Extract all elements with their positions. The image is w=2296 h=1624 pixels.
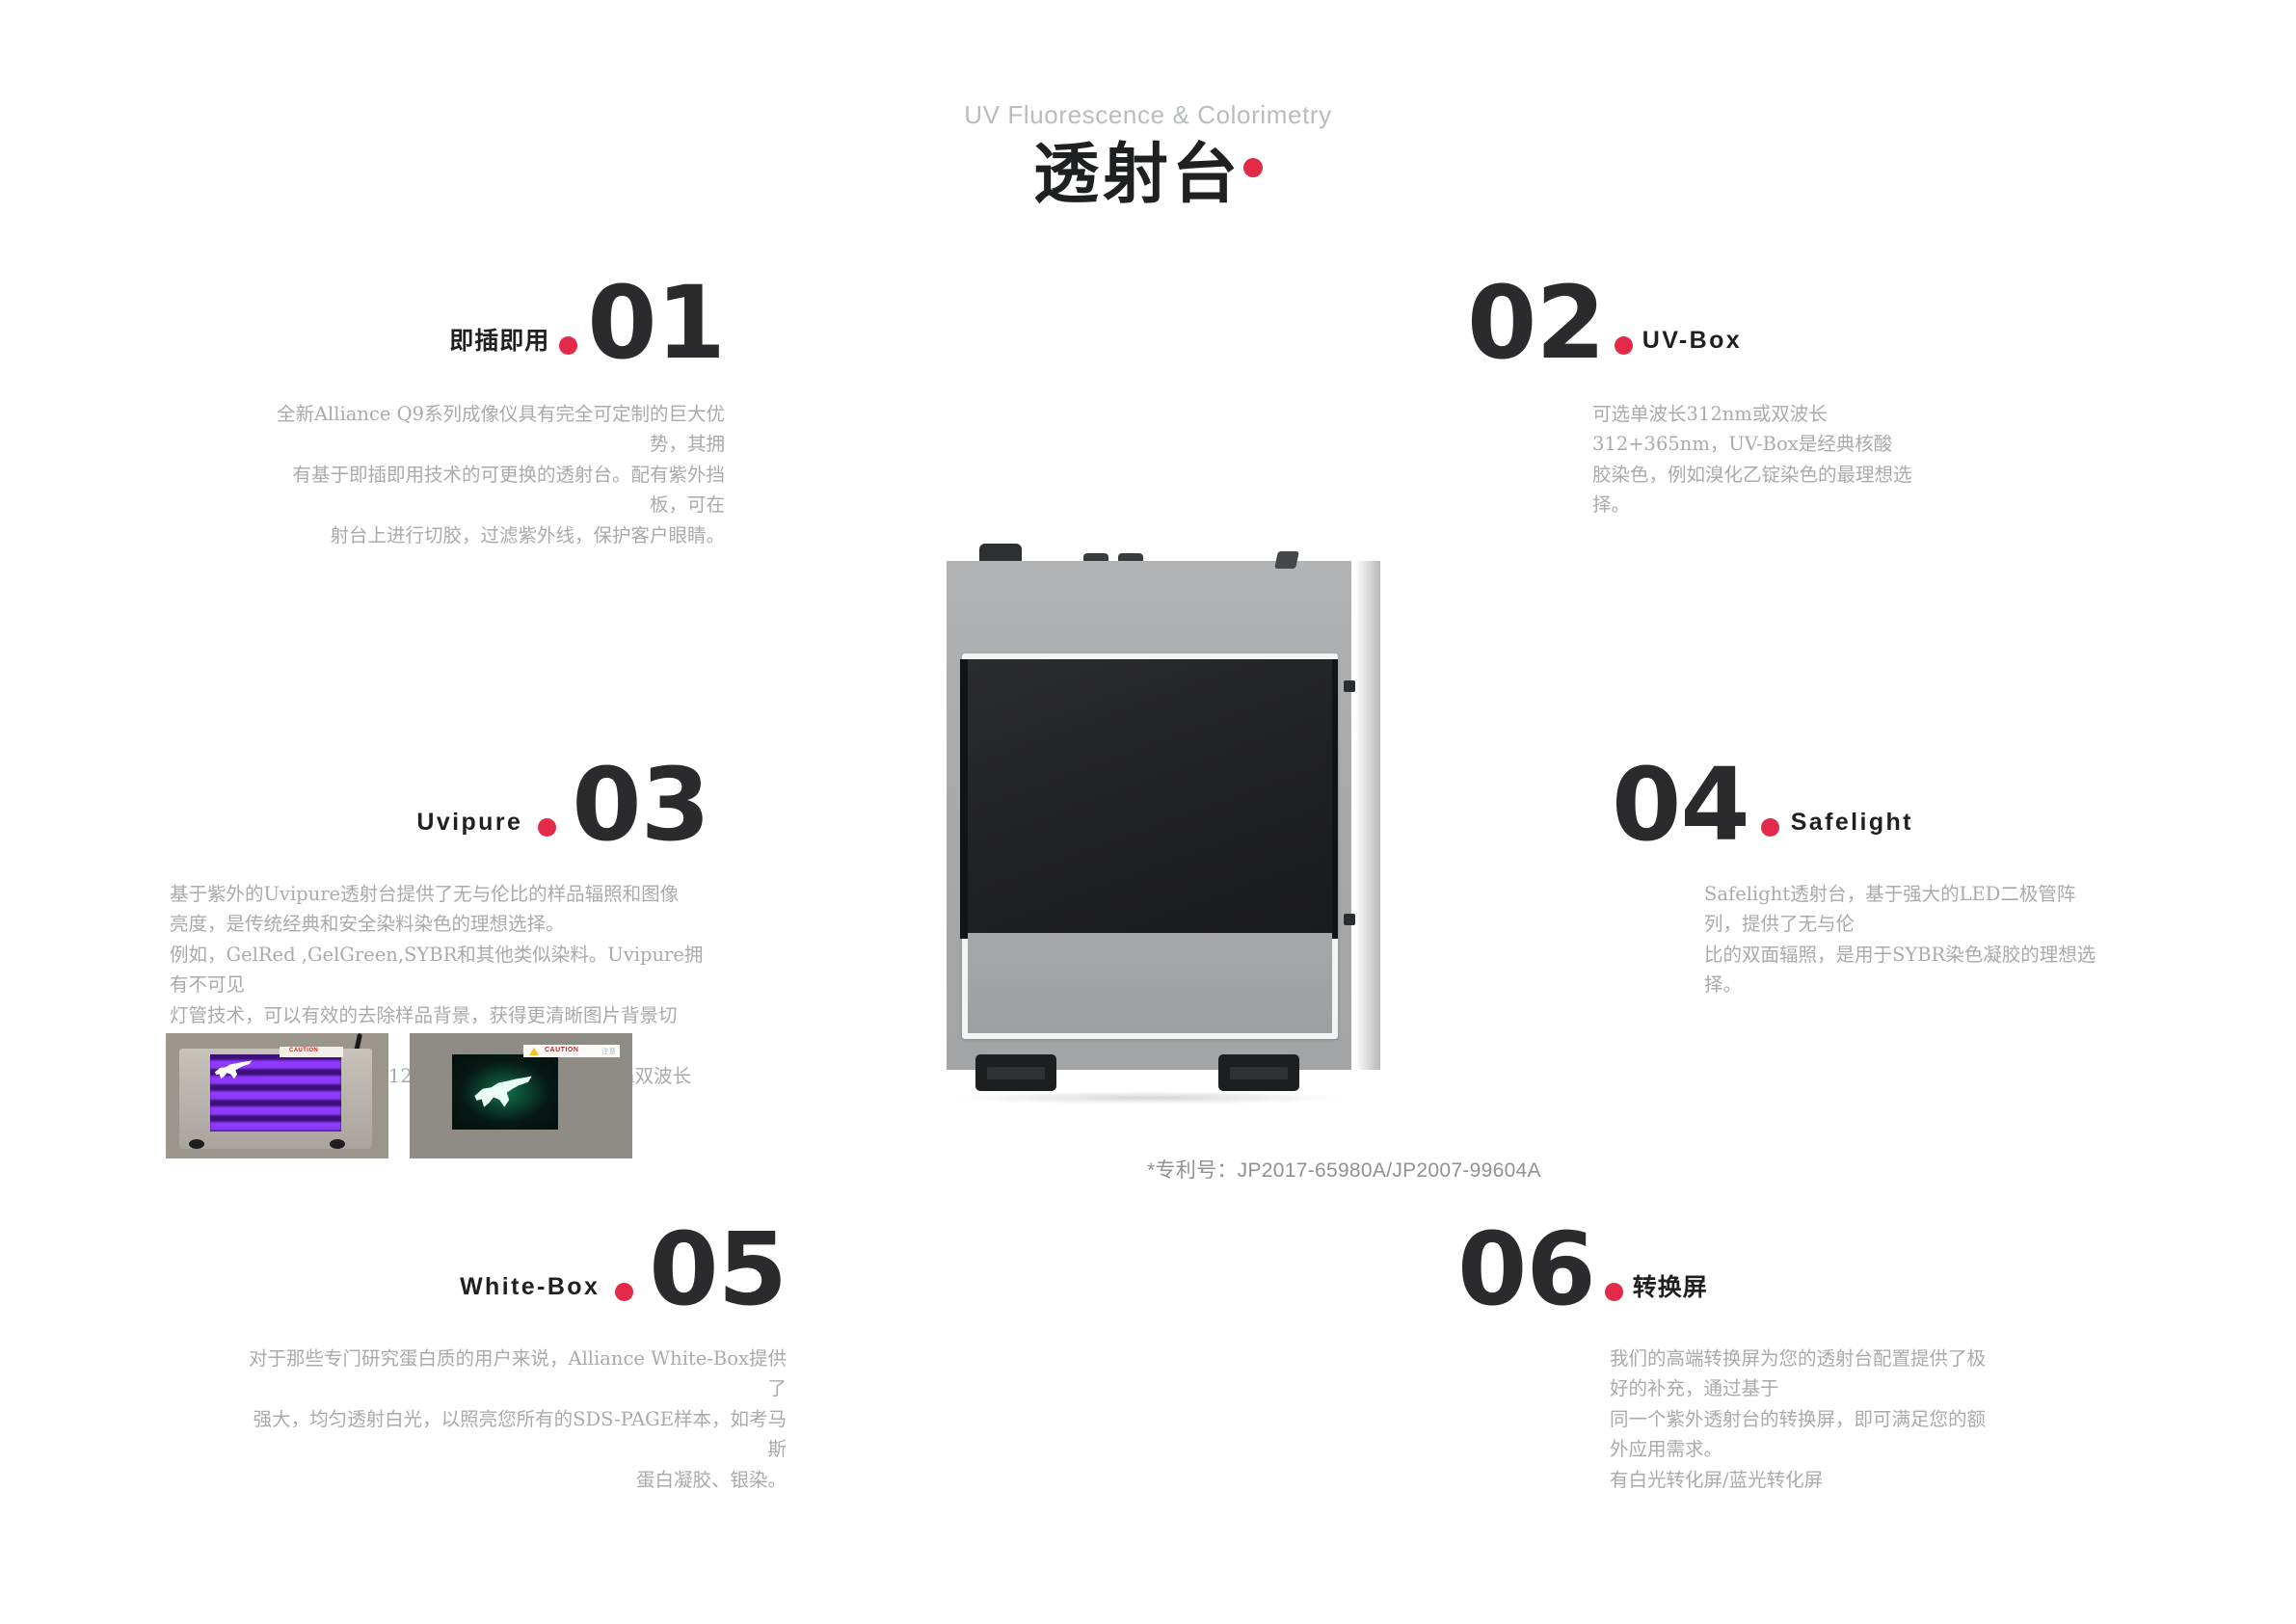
device-ground-shadow — [950, 1091, 1348, 1105]
warning-triangle-icon — [529, 1048, 539, 1055]
page-title: 透射台 — [0, 143, 2296, 208]
section-04-header: 04 Safelight — [1612, 761, 2113, 850]
section-03-dot-icon — [538, 818, 556, 837]
section-04-dot-icon — [1761, 818, 1779, 837]
caution-label-b-text: CAUTION — [545, 1047, 578, 1053]
photo-safelight-panel: CAUTION 注意 — [410, 1033, 632, 1158]
title-dot-icon — [1243, 158, 1263, 177]
section-04: 04 Safelight Safelight透射台，基于强大的LED二极管阵列，… — [1612, 761, 2113, 1000]
device-hinge-bottom — [1344, 914, 1355, 925]
section-02-dot-icon — [1615, 336, 1633, 355]
section-04-number: 04 — [1612, 761, 1749, 850]
section-01-number: 01 — [587, 280, 725, 368]
section-06-header: 06 转换屏 — [1457, 1226, 1997, 1315]
section-06: 06 转换屏 我们的高端转换屏为您的透射台配置提供了极好的补充，通过基于 同一个… — [1457, 1226, 1997, 1495]
section-01-label: 即插即用 — [449, 329, 549, 353]
device-foot-right — [1218, 1054, 1299, 1091]
page-kicker: UV Fluorescence & Colorimetry — [0, 100, 2296, 130]
section-06-label: 转换屏 — [1633, 1275, 1708, 1299]
section-03-label: Uvipure — [416, 811, 522, 835]
section-04-body: Safelight透射台，基于强大的LED二极管阵列，提供了无与伦 比的双面辐照… — [1704, 879, 2113, 1000]
section-01-header: 即插即用 01 — [262, 280, 725, 368]
section-05-dot-icon — [615, 1283, 633, 1301]
section-03-number: 03 — [572, 761, 709, 850]
device-illustration — [918, 528, 1380, 1106]
device-hinge-top — [1344, 680, 1355, 692]
section-06-dot-icon — [1605, 1283, 1623, 1301]
section-06-number: 06 — [1457, 1226, 1595, 1315]
page-title-text: 透射台 — [1033, 143, 1241, 208]
device-lower-panel — [968, 933, 1332, 1033]
section-02-header: 02 UV-Box — [1467, 280, 1949, 368]
brochure-page: UV Fluorescence & Colorimetry 透射台 即插即用 0… — [0, 0, 2296, 1624]
device-dark-window — [968, 659, 1332, 933]
section-02: 02 UV-Box 可选单波长312nm或双波长312+365nm，UV-Box… — [1467, 280, 1949, 520]
caution-label-b-sub: 注意 — [601, 1047, 616, 1056]
section-06-body: 我们的高端转换屏为您的透射台配置提供了极好的补充，通过基于 同一个紫外透射台的转… — [1610, 1344, 1997, 1496]
section-05-label: White-Box — [460, 1275, 600, 1299]
device-side-shading — [1355, 561, 1380, 1070]
section-02-number: 02 — [1467, 280, 1605, 368]
device-foot-left — [975, 1054, 1056, 1091]
section-01: 即插即用 01 全新Alliance Q9系列成像仪具有完全可定制的巨大优势，其… — [262, 280, 725, 550]
section-02-label: UV-Box — [1642, 329, 1742, 353]
section-05-body: 对于那些专门研究蛋白质的用户来说，Alliance White-Box提供了 强… — [247, 1344, 787, 1496]
section-03-header: Uvipure 03 — [170, 761, 709, 850]
tray-foot-left — [189, 1139, 204, 1149]
caution-label-a: CAUTION — [280, 1047, 343, 1057]
caution-label-b: CAUTION 注意 — [523, 1045, 620, 1057]
section-01-dot-icon — [559, 336, 577, 355]
section-01-body: 全新Alliance Q9系列成像仪具有完全可定制的巨大优势，其拥 有基于即插即… — [262, 399, 725, 551]
tray-foot-right — [330, 1139, 345, 1149]
section-05: White-Box 05 对于那些专门研究蛋白质的用户来说，Alliance W… — [247, 1226, 787, 1495]
device-top-latch — [1274, 551, 1299, 569]
safelight-panel — [452, 1054, 558, 1130]
caution-label-a-text: CAUTION — [289, 1048, 318, 1053]
section-04-label: Safelight — [1791, 811, 1913, 835]
section-05-number: 05 — [649, 1226, 787, 1315]
section-02-body: 可选单波长312nm或双波长312+365nm，UV-Box是经典核酸 胶染色，… — [1592, 399, 1949, 520]
patent-number: *专利号：JP2017-65980A/JP2007-99604A — [1147, 1155, 1541, 1184]
photo-uv-transilluminator: CAUTION — [166, 1033, 388, 1158]
section-05-header: White-Box 05 — [247, 1226, 787, 1315]
